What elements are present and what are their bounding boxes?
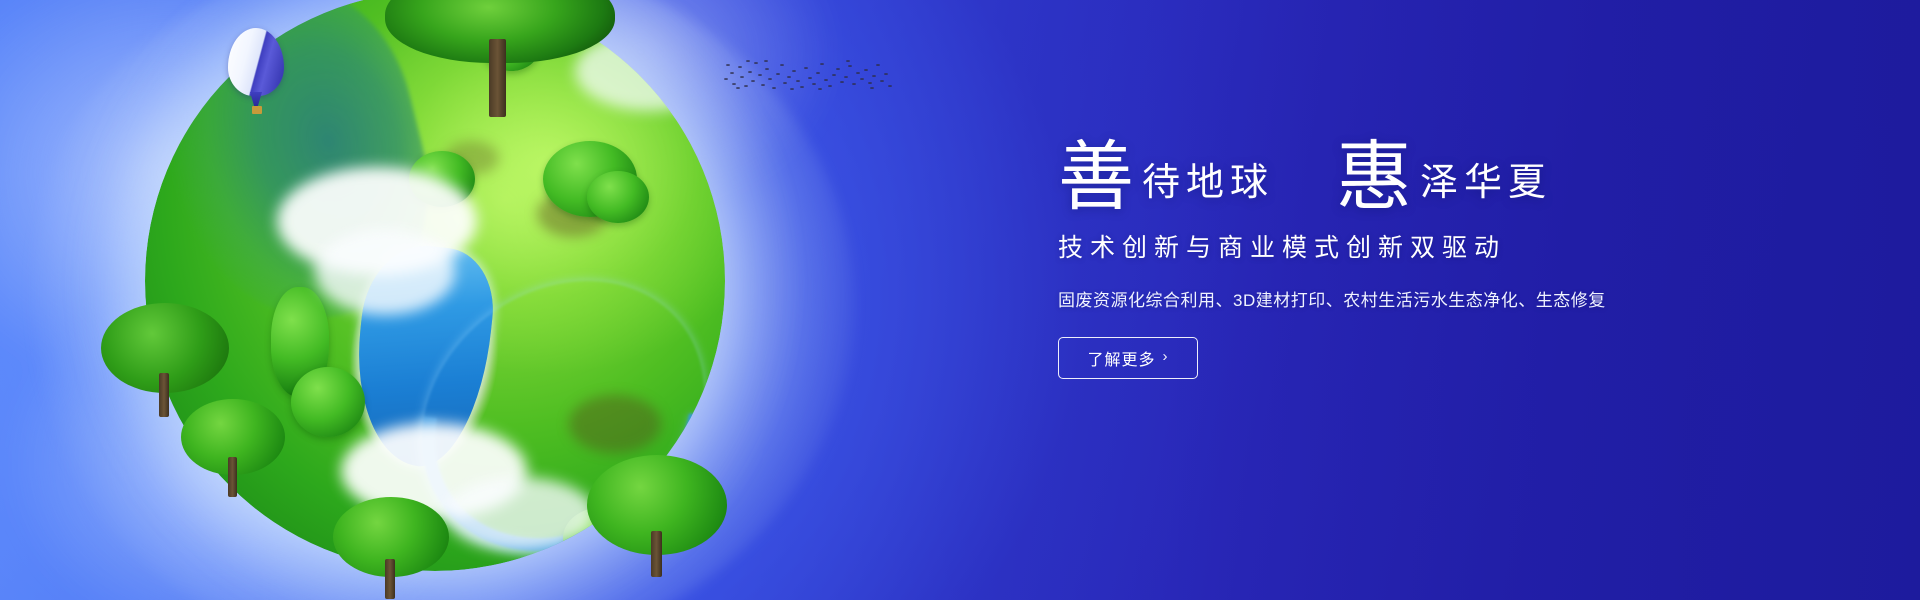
bird-icon xyxy=(856,72,860,74)
bird-icon xyxy=(748,71,752,73)
headline-char-large-2: 惠 xyxy=(1336,144,1412,214)
bird-icon xyxy=(836,68,840,70)
subtitle: 技术创新与商业模式创新双驱动 xyxy=(1058,228,1798,264)
bird-icon xyxy=(888,85,892,87)
bird-icon xyxy=(768,78,772,80)
bird-icon xyxy=(746,60,750,62)
bird-icon xyxy=(724,78,728,80)
bird-icon xyxy=(772,87,776,89)
birds-flock-icon xyxy=(720,52,890,100)
tree-trunk xyxy=(385,559,395,599)
bird-icon xyxy=(844,76,848,78)
balloon-basket xyxy=(252,106,262,114)
tree-icon xyxy=(587,455,727,575)
bird-icon xyxy=(864,69,868,71)
headline-text-small-1: 待地球 xyxy=(1134,164,1274,210)
tree-trunk xyxy=(159,373,169,417)
bird-icon xyxy=(758,74,762,76)
chevron-right-icon: › xyxy=(1163,348,1169,365)
bird-icon xyxy=(787,76,791,78)
bird-icon xyxy=(792,70,796,72)
tree-icon xyxy=(333,497,449,597)
bird-icon xyxy=(800,86,804,88)
bird-icon xyxy=(818,88,822,90)
description: 固废资源化综合利用、3D建材打印、农村生活污水生态净化、生态修复 xyxy=(1058,286,1798,311)
cloud-icon xyxy=(445,477,595,551)
bird-icon xyxy=(754,62,758,64)
tree-icon xyxy=(385,0,615,117)
bird-icon xyxy=(828,85,832,87)
bird-icon xyxy=(876,64,880,66)
bird-icon xyxy=(744,85,748,87)
tree-trunk xyxy=(228,457,237,497)
tree-icon xyxy=(181,399,285,495)
bird-icon xyxy=(790,88,794,90)
bird-icon xyxy=(730,72,734,74)
bird-icon xyxy=(783,82,787,84)
bird-icon xyxy=(796,80,800,82)
bird-icon xyxy=(848,65,852,67)
bird-icon xyxy=(868,82,872,84)
page-title: 善 待地球 惠 泽华夏 xyxy=(1058,140,1798,210)
bird-icon xyxy=(780,64,784,66)
bird-icon xyxy=(884,73,888,75)
learn-more-label: 了解更多 xyxy=(1087,346,1155,370)
bird-icon xyxy=(820,63,824,65)
shrub-icon xyxy=(291,367,365,437)
tree-trunk xyxy=(489,39,506,117)
bird-icon xyxy=(726,64,730,66)
bird-icon xyxy=(740,76,744,78)
hot-air-balloon-icon xyxy=(228,28,284,124)
bird-icon xyxy=(812,83,816,85)
bird-icon xyxy=(761,84,765,86)
bird-icon xyxy=(738,66,742,68)
hero-content: 善 待地球 惠 泽华夏 技术创新与商业模式创新双驱动 固废资源化综合利用、3D建… xyxy=(1058,140,1798,379)
bird-icon xyxy=(751,80,755,82)
bird-icon xyxy=(776,73,780,75)
balloon-neck xyxy=(250,92,262,106)
bird-icon xyxy=(764,60,768,62)
bird-icon xyxy=(852,83,856,85)
bird-icon xyxy=(736,87,740,89)
hero-banner: 善 待地球 惠 泽华夏 技术创新与商业模式创新双驱动 固废资源化综合利用、3D建… xyxy=(0,0,1920,600)
bird-icon xyxy=(870,87,874,89)
tree-trunk xyxy=(651,531,662,577)
bird-icon xyxy=(804,67,808,69)
headline-text-small-2: 泽华夏 xyxy=(1412,164,1552,210)
globe-illustration xyxy=(135,0,735,600)
bird-icon xyxy=(840,81,844,83)
bird-icon xyxy=(872,75,876,77)
bird-icon xyxy=(824,79,828,81)
bird-icon xyxy=(816,72,820,74)
shrub-icon xyxy=(587,171,649,223)
bird-icon xyxy=(808,77,812,79)
cloud-icon xyxy=(315,229,455,315)
bird-icon xyxy=(765,68,769,70)
bird-icon xyxy=(860,78,864,80)
bird-icon xyxy=(732,83,736,85)
bird-icon xyxy=(832,74,836,76)
learn-more-button[interactable]: 了解更多 › xyxy=(1058,337,1198,379)
bird-icon xyxy=(846,60,850,62)
balloon-envelope xyxy=(228,28,284,96)
headline-char-large-1: 善 xyxy=(1058,144,1134,214)
bird-icon xyxy=(880,80,884,82)
